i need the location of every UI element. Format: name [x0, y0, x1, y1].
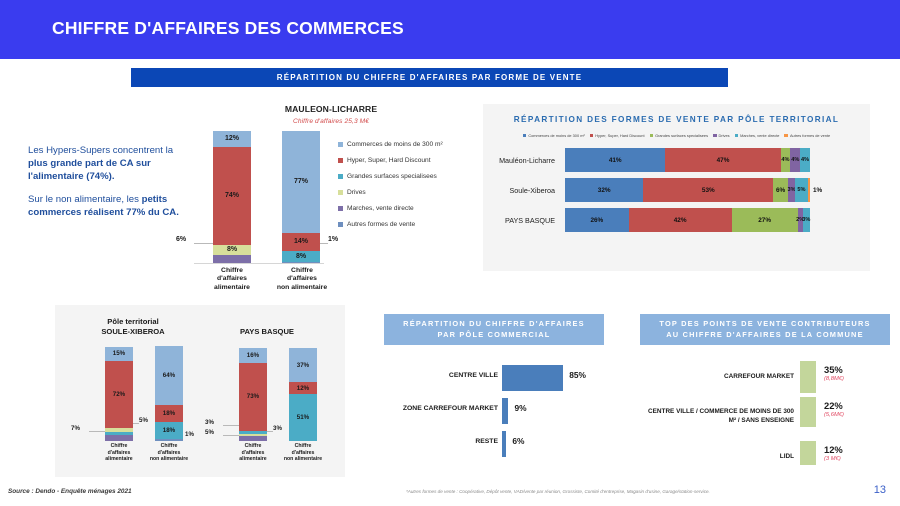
- pole-legend-item-label: Commerces de moins de 300 m²: [528, 133, 584, 138]
- soule-col2-seg-0: 64%: [155, 346, 183, 406]
- top-points-title-line2: AU CHIFFRE D'AFFAIRES DE LA COMMUNE: [642, 329, 888, 340]
- pole-segment-0: 26%: [565, 208, 629, 232]
- top-points-row-0: CARREFOUR MARKET35%(8,8M€): [640, 359, 890, 395]
- pole-segment-4: 5%: [795, 178, 807, 202]
- pole-commercial-row-label: RESTE: [384, 427, 498, 457]
- legend-swatch-icon: [338, 142, 343, 147]
- pole-row-2: PAYS BASQUE26%42%27%2%3%: [483, 205, 870, 235]
- pole-commercial-row-0: CENTRE VILLE85%: [384, 361, 604, 394]
- pole-row-0: Mauléon-Licharre41%47%4%4%4%: [483, 145, 870, 175]
- soule-col2-seg-3: [155, 439, 183, 441]
- top-points-bar: [800, 361, 816, 393]
- top-points-panel: TOP DES POINTS DE VENTE CONTRIBUTEURS AU…: [640, 314, 890, 479]
- mauleon-col2-seg-0: 77%: [282, 131, 320, 233]
- narrative-paragraph-2: Sur le non alimentaire, les petits comme…: [28, 193, 186, 219]
- top-points-value-group: 12%(3 M€): [824, 444, 843, 462]
- mauleon-col2-seg-1: 14%: [282, 233, 320, 251]
- legend-swatch-icon: [523, 134, 527, 138]
- soule-col1-seg-4: [105, 435, 133, 442]
- legend-swatch-icon: [650, 134, 654, 138]
- top-points-row-label: CENTRE VILLE / COMMERCE DE MOINS DE 300 …: [640, 395, 794, 439]
- pole-segment-1: 42%: [629, 208, 732, 232]
- pole-row-label: Mauléon-Licharre: [483, 145, 561, 175]
- top-points-banner: TOP DES POINTS DE VENTE CONTRIBUTEURS AU…: [640, 314, 890, 345]
- page-number: 13: [874, 484, 886, 496]
- top-points-row-label: CARREFOUR MARKET: [640, 359, 794, 395]
- pole-segment-4: 4%: [800, 148, 810, 172]
- pole-segment-2: 4%: [781, 148, 791, 172]
- legend-swatch-icon: [338, 174, 343, 179]
- mauleon-stacked-chart: MAULEON-LICHARRE Chiffre d'affaires 25,3…: [186, 104, 476, 289]
- pole-commercial-bar: [502, 398, 508, 424]
- soule-bar-non-alimentaire: 64%18%18%: [155, 346, 183, 441]
- pole-legend-item-label: Grandes surfaces specialisees: [655, 133, 708, 138]
- soule-chart-title-line1: Pôle territorial: [73, 317, 193, 327]
- narrative-p1-bold: plus grande part de CA sur l'alimentaire…: [28, 158, 151, 182]
- pole-segment-2: 6%: [773, 178, 788, 202]
- pole-legend-item-label: Drives: [719, 133, 730, 138]
- mauleon-cat-label-2: Chiffred'affairesnon alimentaire: [262, 267, 342, 292]
- mauleon-col1-seg-2: 8%: [213, 245, 251, 256]
- pole-commercial-value: 9%: [514, 403, 526, 413]
- pb-outside-3pct-b: 3%: [273, 425, 282, 432]
- mauleon-chart-subtitle: Chiffre d'affaires 25,3 M€: [186, 118, 476, 125]
- mauleon-leader-1: [194, 243, 213, 244]
- legend-item-1: Hyper, Super, Hard Discount: [338, 157, 443, 164]
- top-points-subvalue: (8,8M€): [824, 376, 844, 382]
- legend-item-5: Autres formes de vente: [338, 221, 443, 228]
- soule-col1-seg-0: 15%: [105, 347, 133, 361]
- pole-segment-4: 3%: [803, 208, 810, 232]
- top-points-value: 22%: [824, 400, 844, 411]
- pole-segment-0: 41%: [565, 148, 665, 172]
- legend-swatch-icon: [338, 206, 343, 211]
- legend-item-label: Commerces de moins de 300 m²: [347, 141, 443, 148]
- pole-commercial-value: 6%: [512, 436, 524, 446]
- soule-col2-seg-1: 18%: [155, 405, 183, 422]
- pb-col1-seg-0: 16%: [239, 348, 267, 363]
- pole-commercial-panel: RÉPARTITION DU CHIFFRE D'AFFAIRES PAR PÔ…: [384, 314, 604, 474]
- top-points-value: 35%: [824, 364, 844, 375]
- top-points-value-group: 22%(5,6M€): [824, 400, 844, 418]
- mauleon-plot-area: 12%74%8% Chiffred'affairesalimentaire 6%…: [186, 133, 476, 288]
- top-points-subvalue: (5,6M€): [824, 412, 844, 418]
- page-title: CHIFFRE D'AFFAIRES DES COMMERCES: [52, 18, 404, 39]
- mauleon-col2-seg-2: 8%: [282, 251, 320, 262]
- top-points-rows: CARREFOUR MARKET35%(8,8M€)CENTRE VILLE /…: [640, 359, 890, 475]
- pole-commercial-title-line2: PAR PÔLE COMMERCIAL: [386, 329, 602, 340]
- pole-commercial-row-1: ZONE CARREFOUR MARKET9%: [384, 394, 604, 427]
- pole-legend-item-2: Grandes surfaces specialisees: [650, 133, 708, 138]
- legend-swatch-icon: [784, 134, 788, 138]
- narrative-p2-normal: Sur le non alimentaire, les: [28, 194, 142, 205]
- soule-outside-7pct: 7%: [71, 425, 80, 432]
- footer-note: *Autres formes de vente : Coopérative, D…: [406, 489, 710, 494]
- mauleon-col1-seg-3: [213, 255, 251, 263]
- legend-item-3: Drives: [338, 189, 443, 196]
- top-points-bar: [800, 441, 816, 465]
- pb-bar-non-alimentaire: 37%12%51%: [289, 348, 317, 441]
- legend-item-4: Marches, vente directe: [338, 205, 443, 212]
- mauleon-leader-2: [320, 243, 328, 244]
- pole-commercial-banner: RÉPARTITION DU CHIFFRE D'AFFAIRES PAR PÔ…: [384, 314, 604, 345]
- soule-col1-seg-1: 72%: [105, 361, 133, 428]
- pole-row-label: PAYS BASQUE: [483, 205, 561, 235]
- narrative-paragraph-1: Les Hypers-Supers concentrent la plus gr…: [28, 144, 186, 184]
- pole-segment-3: 3%: [788, 178, 795, 202]
- pb-col2-seg-0: 37%: [289, 348, 317, 382]
- pole-legend-item-3: Drives: [713, 133, 730, 138]
- pole-row-track: 26%42%27%2%3%: [565, 208, 810, 232]
- pb-col2-seg-2: 51%: [289, 394, 317, 441]
- pb-col2-seg-1: 12%: [289, 382, 317, 393]
- pole-row-label: Soule-Xiberoa: [483, 175, 561, 205]
- narrative-p1-normal: Les Hypers-Supers concentrent la: [28, 145, 173, 156]
- top-points-row-2: LIDL12%(3 M€): [640, 439, 890, 475]
- soule-col2-seg-2: 18%: [155, 422, 183, 439]
- pb-leader-1: [223, 425, 239, 426]
- pole-legend-item-label: Autres formes de vente: [790, 133, 830, 138]
- pb-plot-area: 16%73% 37%12%51% Chiffred'affairesalimen…: [207, 347, 332, 467]
- pole-territorial-rows: Mauléon-Licharre41%47%4%4%4%Soule-Xibero…: [483, 145, 870, 235]
- mauleon-col1-seg-0: 12%: [213, 131, 251, 147]
- mauleon-baseline: [194, 263, 324, 264]
- pb-chart-title: PAYS BASQUE: [207, 327, 327, 337]
- legend-swatch-icon: [338, 158, 343, 163]
- soule-plot-area: 15%72% 64%18%18% Chiffred'affairesalimen…: [73, 347, 198, 467]
- soule-bar-alimentaire: 15%72%: [105, 347, 133, 441]
- pole-commercial-row-label: CENTRE VILLE: [384, 361, 498, 391]
- pb-leader-2: [223, 435, 239, 436]
- pole-commercial-bar: [502, 431, 506, 457]
- mauleon-legend: Commerces de moins de 300 m²Hyper, Super…: [338, 141, 443, 237]
- pb-bar-alimentaire: 16%73%: [239, 348, 267, 441]
- pole-legend-item-label: Marches, vente directe: [740, 133, 779, 138]
- soule-cat-label-2: Chiffred'affairesnon alimentaire: [137, 443, 201, 463]
- legend-swatch-icon: [590, 134, 594, 138]
- pb-cat-label-2: Chiffred'affairesnon alimentaire: [271, 443, 335, 463]
- pole-row-1: Soule-Xiberoa32%53%6%3%5%1%: [483, 175, 870, 205]
- pb-outside-3pct: 3%: [205, 419, 214, 426]
- soule-outside-1pct: 1%: [185, 431, 194, 438]
- pole-legend-item-5: Autres formes de vente: [784, 133, 830, 138]
- mauleon-outside-label-1pct: 1%: [328, 236, 338, 243]
- pole-legend-item-label: Hyper, Super, Hard Discount: [595, 133, 644, 138]
- pole-segment-0: 32%: [565, 178, 643, 202]
- legend-item-0: Commerces de moins de 300 m²: [338, 141, 443, 148]
- pb-col1-seg-1: 73%: [239, 363, 267, 431]
- pole-row-track: 41%47%4%4%4%: [565, 148, 810, 172]
- pole-comparison-card: Pôle territorial SOULE-XIBEROA PAYS BASQ…: [55, 305, 345, 477]
- legend-item-label: Drives: [347, 189, 366, 196]
- legend-swatch-icon: [735, 134, 739, 138]
- pb-leader-3: [267, 431, 273, 432]
- top-points-row-1: CENTRE VILLE / COMMERCE DE MOINS DE 300 …: [640, 395, 890, 439]
- pole-commercial-bar: [502, 365, 563, 391]
- legend-swatch-icon: [338, 190, 343, 195]
- narrative-text: Les Hypers-Supers concentrent la plus gr…: [28, 144, 186, 228]
- pole-legend-item-1: Hyper, Super, Hard Discount: [590, 133, 645, 138]
- pole-legend-item-0: Commerces de moins de 300 m²: [523, 133, 585, 138]
- pole-commercial-value: 85%: [569, 370, 586, 380]
- mauleon-chart-title: MAULEON-LICHARRE: [186, 104, 476, 114]
- pole-territorial-legend: Commerces de moins de 300 m²Hyper, Super…: [483, 133, 870, 138]
- top-points-bar: [800, 397, 816, 427]
- mauleon-outside-label-6pct: 6%: [176, 236, 186, 243]
- top-points-value-group: 35%(8,8M€): [824, 364, 844, 382]
- pole-territorial-title: RÉPARTITION DES FORMES DE VENTE PAR PÔLE…: [483, 104, 870, 124]
- pole-segment-1: 53%: [643, 178, 773, 202]
- pole-segment-2: 27%: [732, 208, 798, 232]
- pb-outside-5pct: 5%: [205, 429, 214, 436]
- legend-swatch-icon: [713, 134, 717, 138]
- pb-col1-seg-4: [239, 436, 267, 441]
- top-points-value: 12%: [824, 444, 843, 455]
- top-points-title-line1: TOP DES POINTS DE VENTE CONTRIBUTEURS: [642, 318, 888, 329]
- pole-segment-3: 4%: [790, 148, 800, 172]
- pole-legend-item-4: Marches, vente directe: [735, 133, 780, 138]
- legend-item-label: Autres formes de vente: [347, 221, 415, 228]
- top-points-subvalue: (3 M€): [824, 456, 843, 462]
- soule-leader-2: [133, 423, 139, 424]
- footer-source: Source : Dendo - Enquête ménages 2021: [8, 488, 132, 495]
- pole-row-track: 32%53%6%3%5%: [565, 178, 810, 202]
- soule-chart-title-line2: SOULE-XIBEROA: [73, 327, 193, 337]
- pole-territorial-panel: RÉPARTITION DES FORMES DE VENTE PAR PÔLE…: [483, 104, 870, 271]
- mauleon-cat-label-1: Chiffred'affairesalimentaire: [192, 267, 272, 292]
- pole-commercial-rows: CENTRE VILLE85%ZONE CARREFOUR MARKET9%RE…: [384, 361, 604, 460]
- legend-item-label: Hyper, Super, Hard Discount: [347, 157, 431, 164]
- pole-commercial-row-2: RESTE6%: [384, 427, 604, 460]
- section-banner-label: RÉPARTITION DU CHIFFRE D'AFFAIRES PAR FO…: [277, 73, 582, 82]
- pole-segment-5: [808, 178, 810, 202]
- pole-outside-label: 1%: [813, 187, 822, 194]
- pole-commercial-title-line1: RÉPARTITION DU CHIFFRE D'AFFAIRES: [386, 318, 602, 329]
- mauleon-col2-seg-3: [282, 262, 320, 263]
- legend-item-label: Grandes surfaces specialisees: [347, 173, 437, 180]
- soule-leader-1: [89, 431, 105, 432]
- pb-chart-title-line2: PAYS BASQUE: [207, 327, 327, 337]
- legend-item-label: Marches, vente directe: [347, 205, 414, 212]
- mauleon-col1-seg-1: 74%: [213, 147, 251, 245]
- pole-commercial-row-label: ZONE CARREFOUR MARKET: [384, 394, 498, 424]
- legend-item-2: Grandes surfaces specialisees: [338, 173, 443, 180]
- mauleon-bar-alimentaire: 12%74%8%: [213, 131, 251, 263]
- pole-segment-1: 47%: [665, 148, 780, 172]
- mauleon-bar-non-alimentaire: 77%14%8%: [282, 131, 320, 263]
- top-points-row-label: LIDL: [640, 439, 794, 475]
- soule-outside-5pct: 5%: [139, 417, 148, 424]
- legend-swatch-icon: [338, 222, 343, 227]
- section-banner: RÉPARTITION DU CHIFFRE D'AFFAIRES PAR FO…: [131, 68, 728, 87]
- soule-chart-title: Pôle territorial SOULE-XIBEROA: [73, 317, 193, 338]
